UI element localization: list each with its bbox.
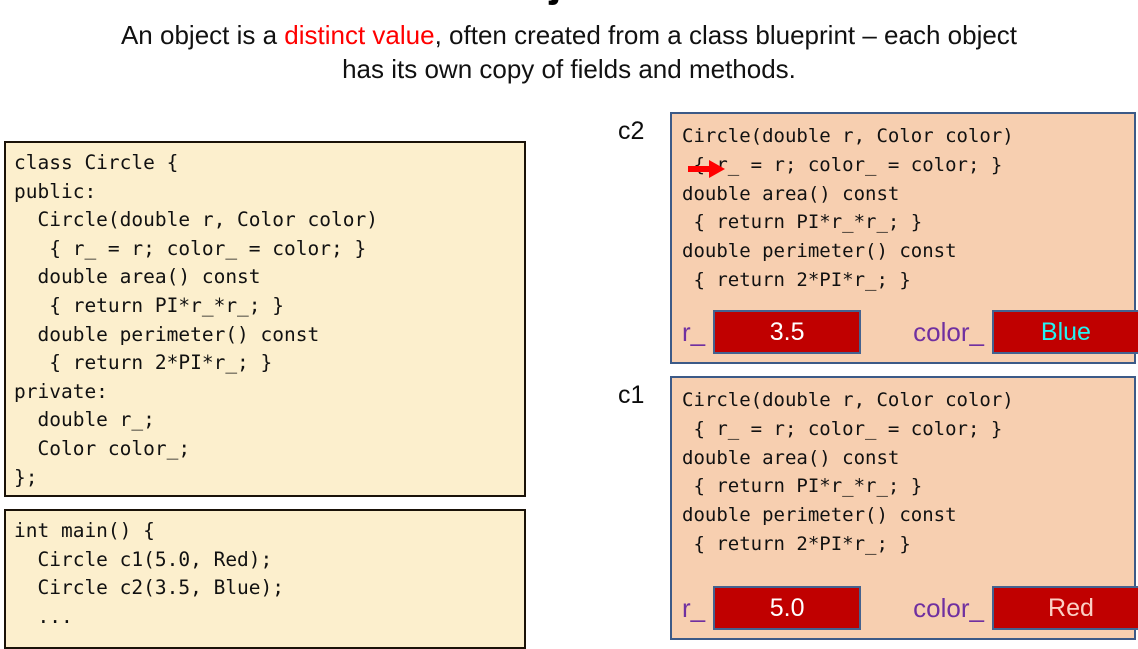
class-definition-code-block: class Circle { public: Circle(double r, … [4, 141, 526, 497]
field-row-c2: r_ 3.5 color_ Blue [682, 310, 1138, 354]
value-box-color-c2: Blue [992, 310, 1138, 354]
field-label-radius-c1: r_ [682, 593, 713, 623]
subtitle-highlight-distinct-value: distinct value [284, 20, 434, 50]
slide-subtitle: An object is a distinct value, often cre… [110, 18, 1028, 86]
object-panel-c1: Circle(double r, Color color) { r_ = r; … [670, 376, 1136, 640]
subtitle-text-before: An object is a [121, 20, 284, 50]
field-row-c1: r_ 5.0 color_ Red [682, 586, 1138, 630]
object-code-c1: Circle(double r, Color color) { r_ = r; … [682, 386, 1134, 559]
object-panel-c2: Circle(double r, Color color) { r_ = r; … [670, 112, 1136, 364]
value-box-radius-c2: 3.5 [713, 310, 861, 354]
value-box-color-c1: Red [992, 586, 1138, 630]
object-label-c2: c2 [618, 116, 666, 146]
field-label-color-c2: color_ [861, 317, 992, 347]
object-code-c2: Circle(double r, Color color) { r_ = r; … [682, 122, 1134, 295]
object-label-c1: c1 [618, 380, 666, 410]
value-box-radius-c1: 5.0 [713, 586, 861, 630]
subtitle-text-after: , often created from a class blueprint –… [342, 20, 1017, 84]
main-function-code-block: int main() { Circle c1(5.0, Red); Circle… [4, 509, 526, 649]
field-label-radius-c2: r_ [682, 317, 713, 347]
slide-title: Objects [0, 0, 1138, 8]
field-label-color-c1: color_ [861, 593, 992, 623]
